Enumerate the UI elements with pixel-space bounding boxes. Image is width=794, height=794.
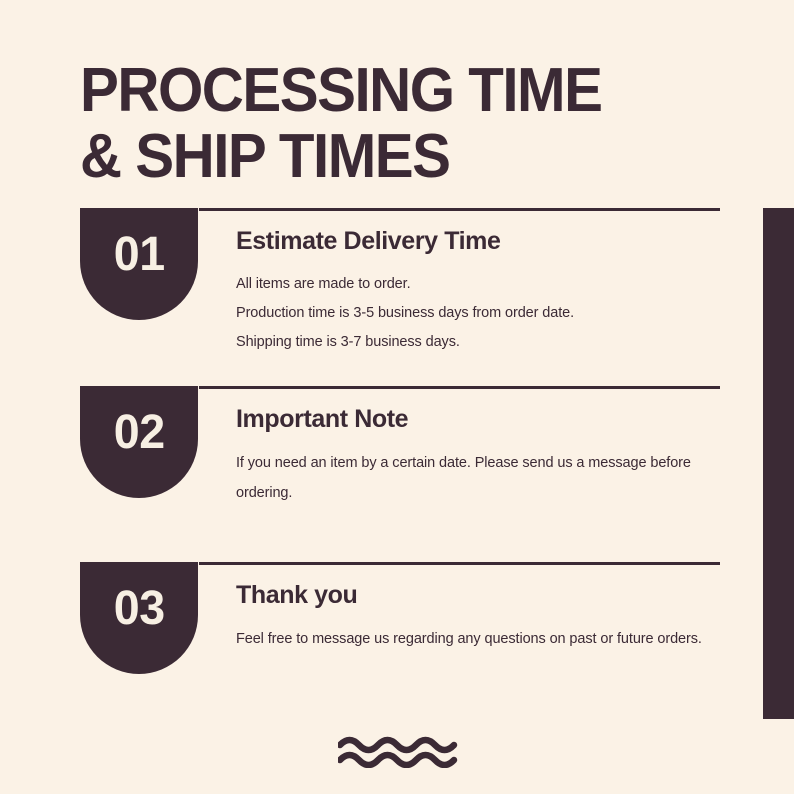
section-03-number-badge: 03: [80, 562, 198, 674]
page-title-line-1: PROCESSING TIME: [80, 58, 700, 124]
section-02-divider: [199, 386, 720, 389]
double-wave-divider-icon: [338, 736, 458, 768]
section-03-number: 03: [114, 585, 165, 633]
section-01-lines: All items are made to order. Production …: [236, 270, 720, 357]
page-title: PROCESSING TIME & SHIP TIMES: [80, 58, 740, 190]
page-title-line-2: & SHIP TIMES: [80, 124, 700, 190]
section-02-number: 02: [114, 409, 165, 457]
section-01-line-2: Production time is 3-5 business days fro…: [236, 299, 720, 328]
section-02-paragraph: If you need an item by a certain date. P…: [236, 448, 706, 508]
section-01-number-badge: 01: [80, 208, 198, 320]
section-03-heading: Thank you: [236, 580, 720, 610]
section-03-divider: [199, 562, 720, 565]
section-01-divider: [199, 208, 720, 211]
section-01-line-1: All items are made to order.: [236, 270, 720, 299]
section-01-number: 01: [114, 231, 165, 279]
section-03-paragraph: Feel free to message us regarding any qu…: [236, 624, 706, 654]
section-02-body: Important Note If you need an item by a …: [236, 404, 720, 508]
section-01-line-3: Shipping time is 3-7 business days.: [236, 328, 720, 357]
section-02-number-badge: 02: [80, 386, 198, 498]
poster-canvas: PROCESSING TIME & SHIP TIMES 01 Estimate…: [0, 0, 794, 794]
section-03-body: Thank you Feel free to message us regard…: [236, 580, 720, 654]
section-01-body: Estimate Delivery Time All items are mad…: [236, 226, 720, 357]
section-02-heading: Important Note: [236, 404, 720, 434]
right-accent-bar: [763, 208, 794, 719]
section-01-heading: Estimate Delivery Time: [236, 226, 720, 256]
